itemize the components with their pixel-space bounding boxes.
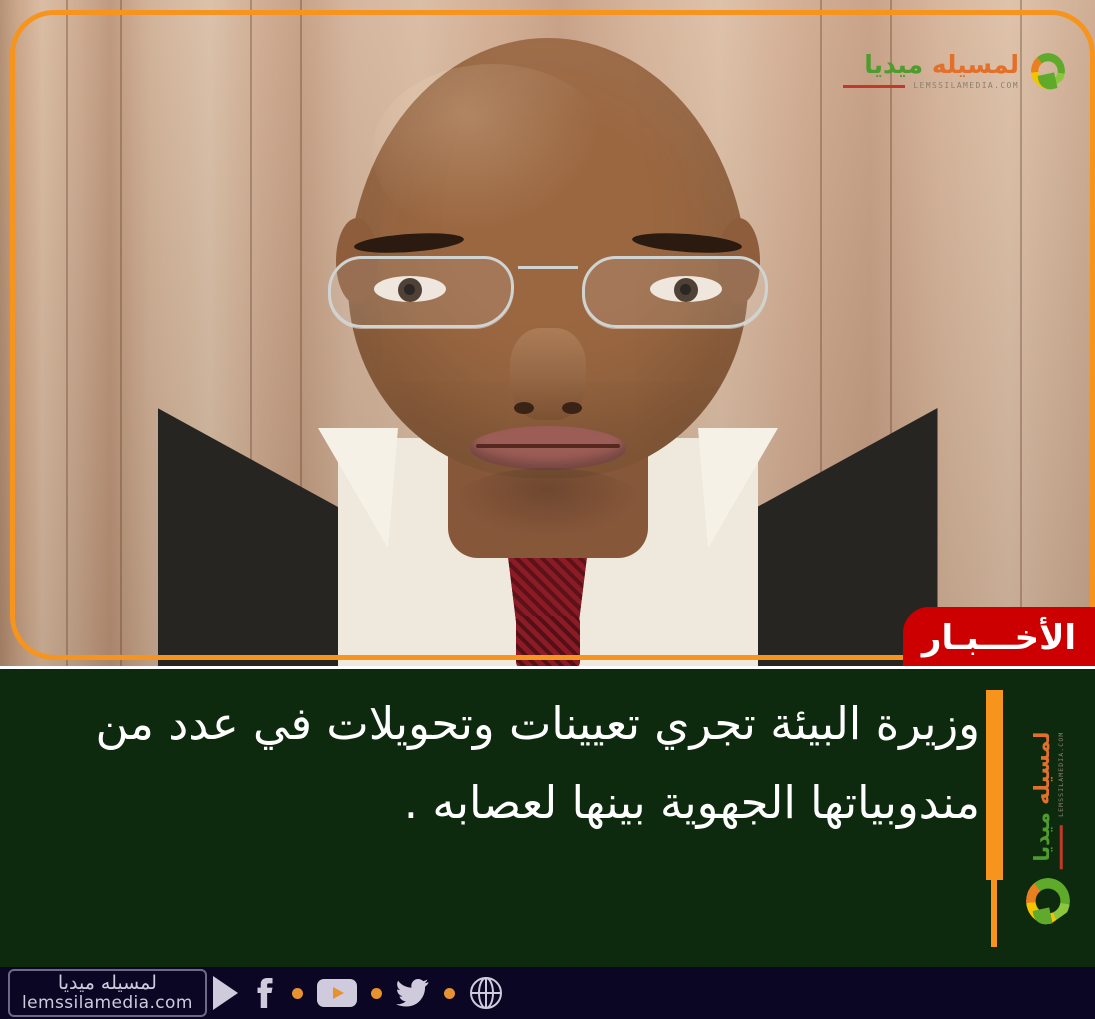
footer-brand-box[interactable]: لمسيله ميديا lemssilamedia.com bbox=[8, 969, 207, 1018]
lens-right bbox=[582, 256, 768, 328]
separator-dot bbox=[371, 988, 382, 999]
footer-brand-url: lemssilamedia.com bbox=[22, 994, 193, 1013]
brand-swoosh-icon-side bbox=[1026, 878, 1070, 924]
play-icon bbox=[213, 976, 238, 1010]
footer-brand-arabic: لمسيله ميديا bbox=[58, 973, 157, 994]
brand-name-part2: ميديا bbox=[864, 50, 923, 79]
separator-dot bbox=[444, 988, 455, 999]
brand-url-row: LEMSSILAMEDIA.COM bbox=[843, 82, 1019, 90]
headline-line-1: وزيرة البيئة تجري تعيينات وتحويلات في عد… bbox=[96, 697, 980, 750]
brand-logo-side[interactable]: لمسيله ميديا LEMSSILAMEDIA.COM bbox=[1012, 700, 1084, 960]
headline-line-2: مندوبياتها الجهوية بينها لعصابه . bbox=[10, 764, 980, 843]
brand-url-side: LEMSSILAMEDIA.COM bbox=[1058, 732, 1065, 817]
curtain-fold bbox=[120, 0, 122, 668]
brand-swoosh-icon bbox=[1031, 53, 1065, 89]
shirt-collar-left bbox=[318, 428, 398, 548]
curtain-fold bbox=[66, 0, 68, 668]
social-links bbox=[213, 976, 503, 1010]
mouth bbox=[470, 426, 626, 470]
brand-logo-top[interactable]: لمسيله ميديا LEMSSILAMEDIA.COM bbox=[843, 52, 1065, 90]
news-category-label: الأخـــبـار bbox=[922, 618, 1076, 658]
chin-shadow bbox=[453, 468, 643, 538]
twitter-icon[interactable] bbox=[396, 979, 430, 1007]
headline-band: وزيرة البيئة تجري تعيينات وتحويلات في عد… bbox=[0, 669, 1095, 967]
brand-name-side-part2: ميديا bbox=[1030, 812, 1054, 861]
person-figure bbox=[168, 28, 928, 668]
news-card: لمسيله ميديا LEMSSILAMEDIA.COM الأخـــبـ… bbox=[0, 0, 1095, 1019]
separator-dot bbox=[292, 988, 303, 999]
orange-accent-bar bbox=[986, 690, 1003, 880]
lens-left bbox=[328, 256, 514, 328]
news-category-badge[interactable]: الأخـــبـار bbox=[903, 607, 1095, 668]
facebook-icon[interactable] bbox=[252, 978, 278, 1008]
brand-rule-side bbox=[1060, 825, 1063, 869]
eyeglasses bbox=[328, 256, 768, 328]
brand-logo-side-text: لمسيله ميديا LEMSSILAMEDIA.COM bbox=[1032, 694, 1065, 906]
brand-logo-text: لمسيله ميديا LEMSSILAMEDIA.COM bbox=[843, 52, 1019, 90]
nose bbox=[510, 328, 586, 420]
brand-rule bbox=[843, 85, 905, 88]
globe-icon[interactable] bbox=[469, 976, 503, 1010]
brand-name-part1: لمسيله bbox=[932, 50, 1019, 79]
footer-bar: لمسيله ميديا lemssilamedia.com bbox=[0, 967, 1095, 1019]
brand-url: LEMSSILAMEDIA.COM bbox=[913, 82, 1019, 90]
article-photo bbox=[0, 0, 1095, 668]
glasses-bridge bbox=[518, 266, 578, 269]
article-headline: وزيرة البيئة تجري تعيينات وتحويلات في عد… bbox=[10, 685, 980, 843]
youtube-icon[interactable] bbox=[317, 979, 357, 1007]
necktie-knot bbox=[516, 616, 580, 668]
curtain-fold bbox=[1020, 0, 1022, 668]
brand-name-side-part1: لمسيله bbox=[1030, 732, 1054, 805]
orange-accent-bar-tail bbox=[991, 880, 997, 947]
brand-name-arabic: لمسيله ميديا bbox=[864, 52, 1019, 77]
brand-name-arabic-side: لمسيله ميديا bbox=[1032, 732, 1053, 862]
shirt-collar-right bbox=[698, 428, 778, 548]
